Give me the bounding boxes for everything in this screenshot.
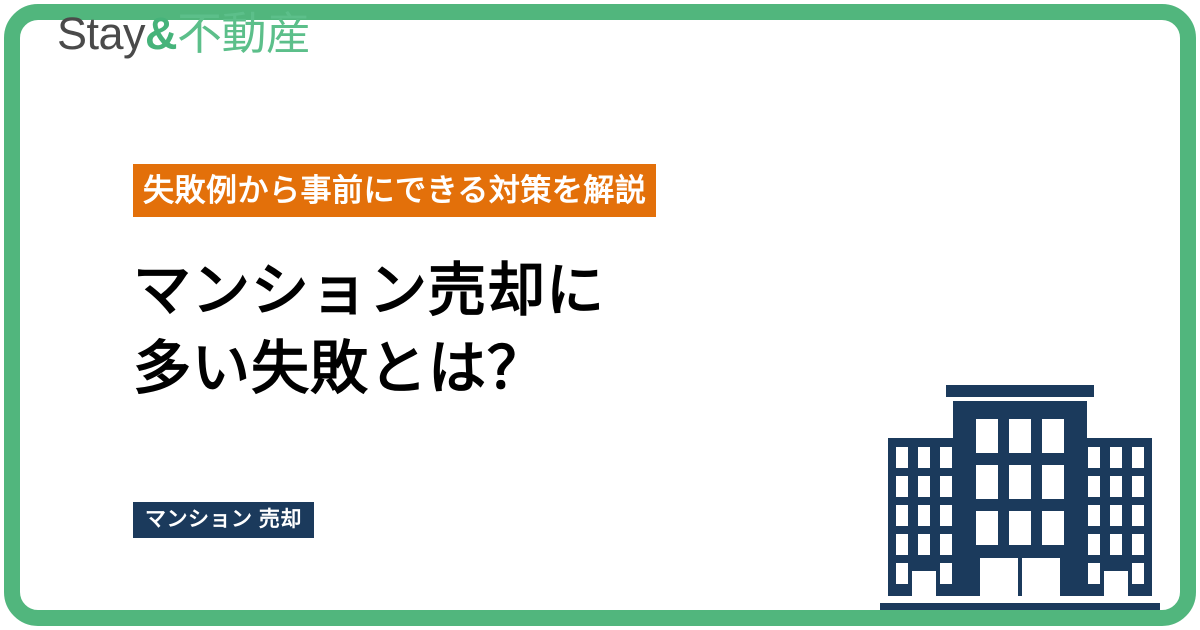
logo-ampersand: & <box>145 8 177 59</box>
headline-line-2: 多い失敗とは？ <box>133 330 605 408</box>
logo-text-primary: Stay <box>57 8 145 59</box>
apartment-buildings-icon <box>870 375 1170 620</box>
og-image-canvas: Stay&不動産 失敗例から事前にできる対策を解説 マンション売却に 多い失敗と… <box>0 0 1200 630</box>
page-title: マンション売却に 多い失敗とは？ <box>133 252 605 408</box>
eyebrow-badge: 失敗例から事前にできる対策を解説 <box>133 164 656 217</box>
logo-text-secondary: 不動産 <box>177 8 311 59</box>
category-tag: マンション 売却 <box>133 502 314 538</box>
headline-line-1: マンション売却に <box>133 252 605 330</box>
site-logo[interactable]: Stay&不動産 <box>57 8 311 60</box>
